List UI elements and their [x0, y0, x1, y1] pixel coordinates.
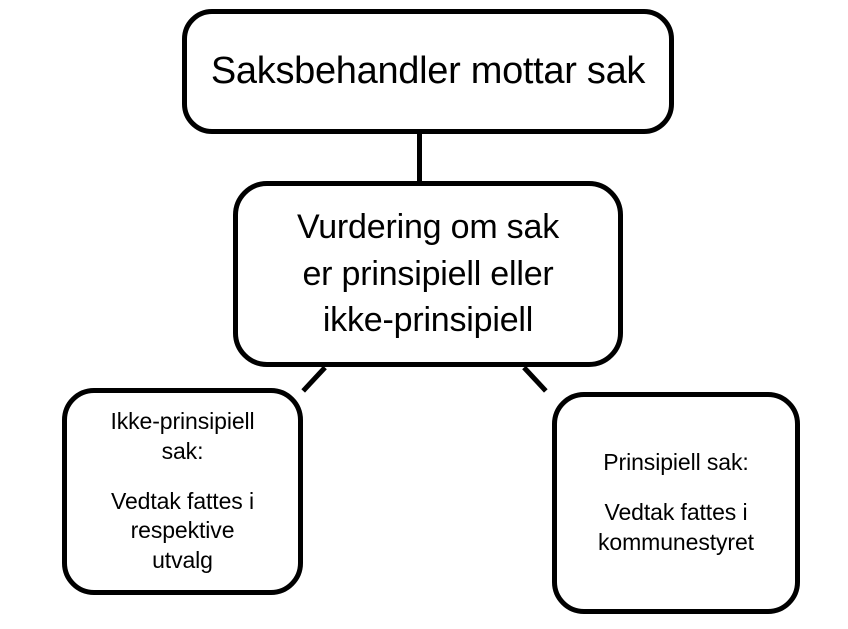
node-right-body-line-2: kommunestyret	[598, 528, 754, 558]
node-decision-line-3: ikke-prinsipiell	[323, 297, 533, 344]
node-right-paragraph-body: Vedtak fattes i kommunestyret	[598, 498, 754, 558]
node-right-body-line-1: Vedtak fattes i	[598, 498, 754, 528]
node-decision-line-2: er prinsipiell eller	[302, 251, 553, 298]
node-saksbehandler-mottar-sak[interactable]: Saksbehandler mottar sak	[182, 9, 674, 134]
connector-start-to-decision	[417, 130, 422, 184]
node-vurdering-om-sak[interactable]: Vurdering om sak er prinsipiell eller ik…	[233, 181, 623, 367]
flowchart-canvas: Saksbehandler mottar sak Vurdering om sa…	[0, 0, 848, 629]
node-start-line-1: Saksbehandler mottar sak	[211, 50, 645, 93]
node-right-paragraph-heading: Prinsipiell sak:	[603, 448, 748, 478]
node-left-body-line-3: utvalg	[111, 546, 254, 576]
node-prinsipiell-sak[interactable]: Prinsipiell sak: Vedtak fattes i kommune…	[552, 392, 800, 614]
node-decision-line-1: Vurdering om sak	[297, 204, 559, 251]
connector-decision-to-right-outcome	[522, 366, 547, 393]
node-left-heading-line-2: sak:	[110, 437, 254, 467]
node-left-paragraph-body: Vedtak fattes i respektive utvalg	[111, 487, 254, 577]
node-left-body-line-1: Vedtak fattes i	[111, 487, 254, 517]
node-ikke-prinsipiell-sak[interactable]: Ikke-prinsipiell sak: Vedtak fattes i re…	[62, 388, 303, 595]
node-right-heading-line-1: Prinsipiell sak:	[603, 448, 748, 478]
node-left-body-line-2: respektive	[111, 516, 254, 546]
connector-decision-to-left-outcome	[301, 366, 326, 393]
node-left-heading-line-1: Ikke-prinsipiell	[110, 407, 254, 437]
node-left-paragraph-heading: Ikke-prinsipiell sak:	[110, 407, 254, 467]
